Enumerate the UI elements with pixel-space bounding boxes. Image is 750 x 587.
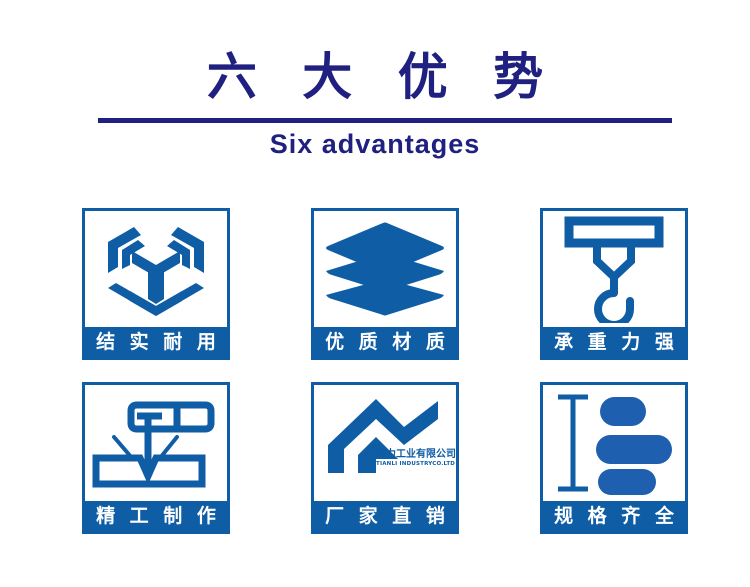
stacked-layers-icon bbox=[314, 211, 456, 327]
three-way-chevron-structure-icon bbox=[85, 211, 227, 327]
advantage-card-label: 优 质 材 质 bbox=[314, 327, 456, 357]
size-specification-bars-icon bbox=[543, 385, 685, 501]
advantage-card-craftsmanship[interactable]: 精 工 制 作 bbox=[82, 382, 230, 534]
advantages-grid: 结 实 耐 用 优 质 材 质 bbox=[82, 208, 668, 534]
company-logo-text: 天力工业有限公司 TIANLI INDUSTRYCO.LTD bbox=[376, 449, 456, 468]
company-name-cn: 天力工业有限公司 bbox=[376, 449, 456, 460]
advantage-card-material[interactable]: 优 质 材 质 bbox=[311, 208, 459, 360]
advantage-card-factory-direct[interactable]: 天力工业有限公司 TIANLI INDUSTRYCO.LTD 厂 家 直 销 bbox=[311, 382, 459, 534]
advantage-card-loadbearing[interactable]: 承 重 力 强 bbox=[540, 208, 688, 360]
advantage-card-label: 规 格 齐 全 bbox=[543, 501, 685, 531]
company-name-en: TIANLI INDUSTRYCO.LTD bbox=[376, 460, 456, 468]
advantage-card-label: 厂 家 直 销 bbox=[314, 501, 456, 531]
page-subtitle: Six advantages bbox=[0, 126, 750, 162]
page-title: 六 大 优 势 bbox=[0, 48, 750, 106]
crane-hook-icon bbox=[543, 211, 685, 327]
welding-torch-icon bbox=[85, 385, 227, 501]
advantage-card-label: 承 重 力 强 bbox=[543, 327, 685, 357]
company-roof-logo-icon: 天力工业有限公司 TIANLI INDUSTRYCO.LTD bbox=[314, 385, 456, 501]
advantage-card-specifications[interactable]: 规 格 齐 全 bbox=[540, 382, 688, 534]
title-divider bbox=[98, 118, 672, 123]
advantage-card-durable[interactable]: 结 实 耐 用 bbox=[82, 208, 230, 360]
advantage-card-label: 精 工 制 作 bbox=[85, 501, 227, 531]
page-header: 六 大 优 势 Six advantages bbox=[0, 0, 750, 185]
advantage-card-label: 结 实 耐 用 bbox=[85, 327, 227, 357]
